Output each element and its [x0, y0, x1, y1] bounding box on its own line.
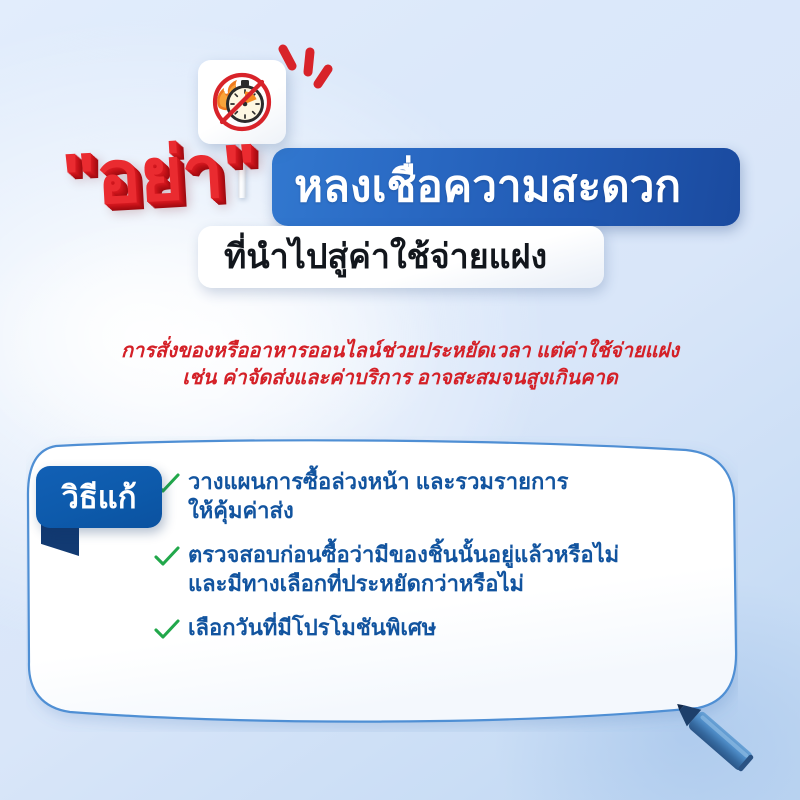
list-item: ตรวจสอบก่อนซื้อว่ามีของชิ้นนั้นอยู่แล้วห… [154, 541, 724, 598]
bullet-2-line-1: ตรวจสอบก่อนซื้อว่ามีของชิ้นนั้นอยู่แล้วห… [188, 541, 619, 570]
tag-box: วิธีแก้ [36, 466, 162, 528]
bullet-3-line-1: เลือกวันที่มีโปรโมชันพิเศษ [188, 614, 436, 643]
green-check-icon [154, 614, 188, 646]
list-item: เลือกวันที่มีโปรโมชันพิเศษ [154, 614, 724, 646]
list-item-text: ตรวจสอบก่อนซื้อว่ามีของชิ้นนั้นอยู่แล้วห… [188, 541, 619, 598]
headline-banner-secondary: ที่นำไปสู่ค่าใช้จ่ายแฝง [198, 226, 604, 288]
lead-line-1: การสั่งของหรืออาหารออนไลน์ช่วยประหยัดเวล… [0, 338, 800, 365]
bullet-1-line-2: ให้คุ้มค่าส่ง [188, 497, 568, 526]
list-item-text: วางแผนการซื้อล่วงหน้า และรวมรายการ ให้คุ… [188, 468, 568, 525]
solution-bullet-list: วางแผนการซื้อล่วงหน้า และรวมรายการ ให้คุ… [154, 468, 724, 646]
emphasis-word-dont: "อย่า" [60, 133, 258, 218]
red-burst-lines-icon [278, 42, 334, 102]
lead-paragraph: การสั่งของหรืออาหารออนไลน์ช่วยประหยัดเวล… [0, 338, 800, 392]
tag-ribbon-tail [41, 524, 79, 556]
list-item: วางแผนการซื้อล่วงหน้า และรวมรายการ ให้คุ… [154, 468, 724, 525]
green-check-icon [154, 541, 188, 573]
lead-line-2: เช่น ค่าจัดส่งและค่าบริการ อาจสะสมจนสูงเ… [0, 365, 800, 392]
blue-pen-icon [668, 688, 776, 772]
list-item-text: เลือกวันที่มีโปรโมชันพิเศษ [188, 614, 436, 643]
headline-line2: ที่นำไปสู่ค่าใช้จ่ายแฝง [198, 240, 547, 274]
bullet-2-line-2: และมีทางเลือกที่ประหยัดกว่าหรือไม่ [188, 570, 619, 599]
solution-card: วิธีแก้ วางแผนการซื้อล่วงหน้า และรวมรายก… [26, 436, 738, 732]
headline-line1: หลงเชื่อความสะดวก [272, 165, 681, 209]
solution-tag: วิธีแก้ [36, 466, 162, 528]
tag-label: วิธีแก้ [61, 482, 136, 513]
headline-banner-primary: หลงเชื่อความสะดวก [272, 148, 740, 226]
header-section: "อย่า" หลงเชื่อความสะดวก ที่นำไปสู่ค่าใช… [0, 0, 800, 310]
bullet-1-line-1: วางแผนการซื้อล่วงหน้า และรวมรายการ [188, 468, 568, 497]
stopwatch-flame-prohibition-icon [209, 70, 275, 134]
